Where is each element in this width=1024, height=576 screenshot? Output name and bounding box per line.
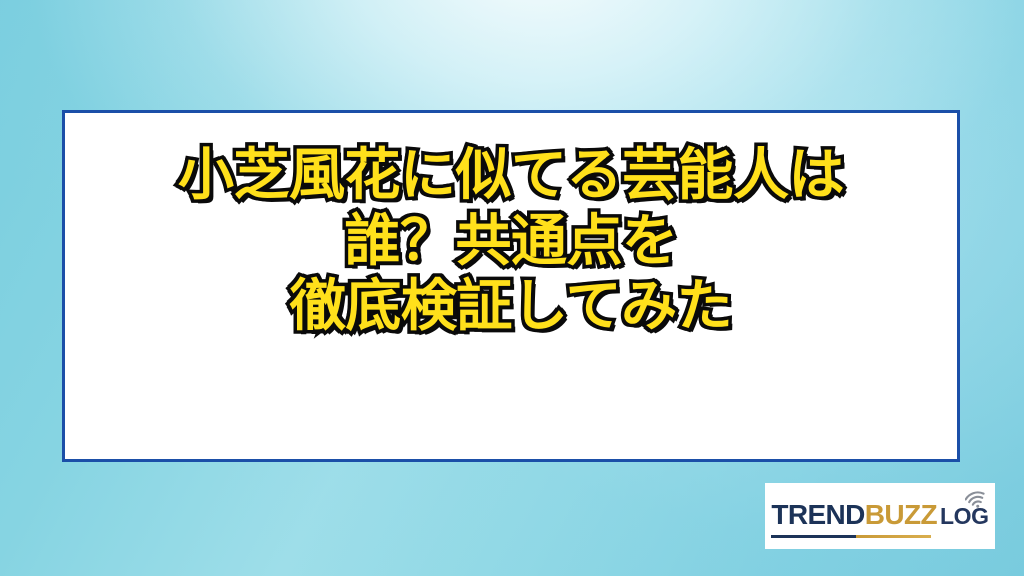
logo-underline — [771, 535, 931, 538]
title-line-2: 誰？共通点を — [65, 209, 957, 275]
article-title: 小芝風花に似てる芸能人は 誰？共通点を 徹底検証してみた — [65, 143, 957, 340]
title-card: 小芝風花に似てる芸能人は 誰？共通点を 徹底検証してみた — [62, 110, 960, 462]
logo-wordmark: TREND BUZZ LOG — [771, 501, 988, 531]
logo-text-trend: TREND — [771, 501, 864, 529]
wifi-signal-icon — [965, 487, 991, 509]
title-line-1: 小芝風花に似てる芸能人は — [65, 143, 957, 209]
site-logo[interactable]: TREND BUZZ LOG — [765, 483, 995, 549]
thumbnail-canvas: 小芝風花に似てる芸能人は 誰？共通点を 徹底検証してみた TREND BUZZ … — [0, 0, 1024, 576]
title-line-3: 徹底検証してみた — [65, 274, 957, 340]
logo-text-buzz: BUZZ — [865, 501, 937, 529]
